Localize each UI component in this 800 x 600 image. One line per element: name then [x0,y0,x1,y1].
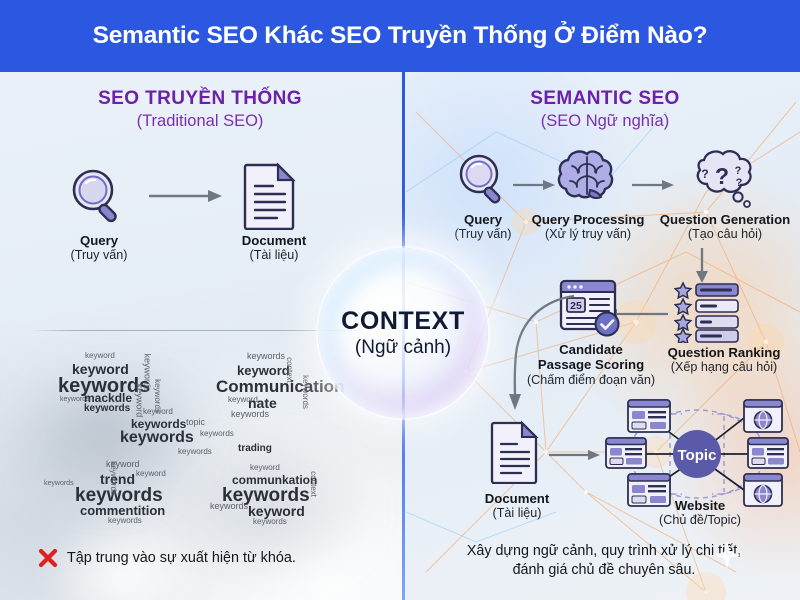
arrow-right-icon [548,448,602,467]
word-cloud-word: keywords [84,404,130,414]
node-sublabel: (Tài liệu) [214,248,334,263]
right-panel-heading: SEMANTIC SEO (SEO Ngữ nghĩa) [445,88,765,131]
word-cloud-word: keywords [44,480,74,487]
arrow-right-icon [512,178,556,197]
document-icon [243,162,297,235]
left-node-label-query: Query (Truy vấn) [39,233,159,263]
right-node-label-question-ranking: Question Ranking (Xếp hạng câu hỏi) [648,345,800,375]
node-label: Question Generation [650,212,800,227]
word-cloud-word: keyword [250,464,280,472]
word-cloud-word: keyword [85,352,115,360]
node-label: Query [39,233,159,248]
context-bubble: CONTEXT (Ngữ cảnh) [318,248,488,418]
node-label: Document [462,491,572,506]
right-heading-title: SEMANTIC SEO [445,88,765,110]
word-cloud-word: keywords [120,430,194,446]
magnifier-icon [68,165,130,232]
page-title: Semantic SEO Khác SEO Truyền Thống Ở Điể… [93,22,708,50]
word-cloud-word: keyword [248,504,305,518]
left-panel-caption: Tập trung vào sự xuất hiện từ khóa. [38,548,388,568]
title-bar: Semantic SEO Khác SEO Truyền Thống Ở Điể… [0,0,800,72]
word-cloud-word: keyword [143,408,173,416]
word-cloud-word: keywords [253,518,287,526]
node-label: Website [620,498,780,513]
word-cloud-word: keywords [109,461,117,495]
node-sublabel: (Tài liệu) [462,506,572,521]
arrow-right-icon [631,178,675,197]
node-label: Question Ranking [648,345,800,360]
word-cloud-word: keyword [237,364,290,377]
svg-text:?: ? [736,177,743,189]
word-cloud-word: keyword [72,362,129,376]
context-label: CONTEXT [341,307,465,336]
document-icon [490,420,540,489]
right-node-label-query-processing: Query Processing (Xử lý truy vấn) [527,212,649,242]
node-label: Query [425,212,541,227]
context-sublabel: (Ngữ cảnh) [355,337,451,359]
left-heading-title: SEO TRUYỀN THỐNG [40,88,360,110]
topic-cluster-icon: Topic [604,398,790,513]
word-cloud-word: trading [238,444,272,454]
left-panel-heading: SEO TRUYỀN THỐNG (Traditional SEO) [40,88,360,131]
brain-icon [556,148,618,213]
node-sublabel: (Tạo câu hỏi) [650,227,800,242]
caption-text: Tập trung vào sự xuất hiện từ khóa. [67,550,296,566]
word-cloud-word: nate [248,396,277,410]
svg-text:Topic: Topic [678,447,717,464]
magnifier-icon [455,150,511,213]
word-cloud-word: keywords [301,375,309,409]
node-label: Document [214,233,334,248]
x-mark-icon [38,548,58,568]
word-cloud-word: Communication [216,378,344,395]
right-heading-subtitle: (SEO Ngữ nghĩa) [445,112,765,131]
right-node-label-document: Document (Tài liệu) [462,491,572,521]
left-heading-subtitle: (Traditional SEO) [40,112,360,131]
word-cloud-word: keywords [231,410,269,419]
word-cloud-word: keywords [247,352,285,361]
word-cloud-word: context [285,357,293,383]
node-sublabel: (Chủ đề/Topic) [620,513,780,528]
word-cloud-word: keyword [136,470,166,478]
node-sublabel: (Truy vấn) [425,227,541,242]
svg-text:?: ? [701,167,708,181]
node-sublabel: (Truy vấn) [39,248,159,263]
word-cloud-word: keywords [108,517,142,525]
word-cloud-word: context [309,471,317,497]
word-cloud-word: keywords [210,502,248,511]
arrow-right-icon [148,188,224,209]
curved-arrow-down-icon [492,292,578,421]
word-cloud-word: topic [186,418,205,427]
infographic-page: Semantic SEO Khác SEO Truyền Thống Ở Điể… [0,0,800,600]
node-sublabel: (Xử lý truy vấn) [527,227,649,242]
right-panel-caption: Xây dựng ngữ cảnh, quy trình xử lý chi t… [412,542,796,581]
svg-text:?: ? [715,163,729,189]
word-cloud-word: keyword [134,384,143,418]
node-sublabel: (Xếp hạng câu hỏi) [648,360,800,375]
right-node-label-website: Website (Chủ đề/Topic) [620,498,780,528]
sparkle-icon [712,540,742,570]
star-ranking-list-icon [674,281,740,348]
left-node-label-document: Document (Tài liệu) [214,233,334,263]
thought-bubble-question-icon: ? ? ? ? [686,146,758,215]
word-cloud-word: keywords [178,448,212,456]
right-node-label-question-generation: Question Generation (Tạo câu hỏi) [650,212,800,242]
right-node-label-query: Query (Truy vấn) [425,212,541,242]
word-cloud-word: keywords [200,430,234,438]
node-label: Query Processing [527,212,649,227]
svg-text:?: ? [735,165,742,177]
